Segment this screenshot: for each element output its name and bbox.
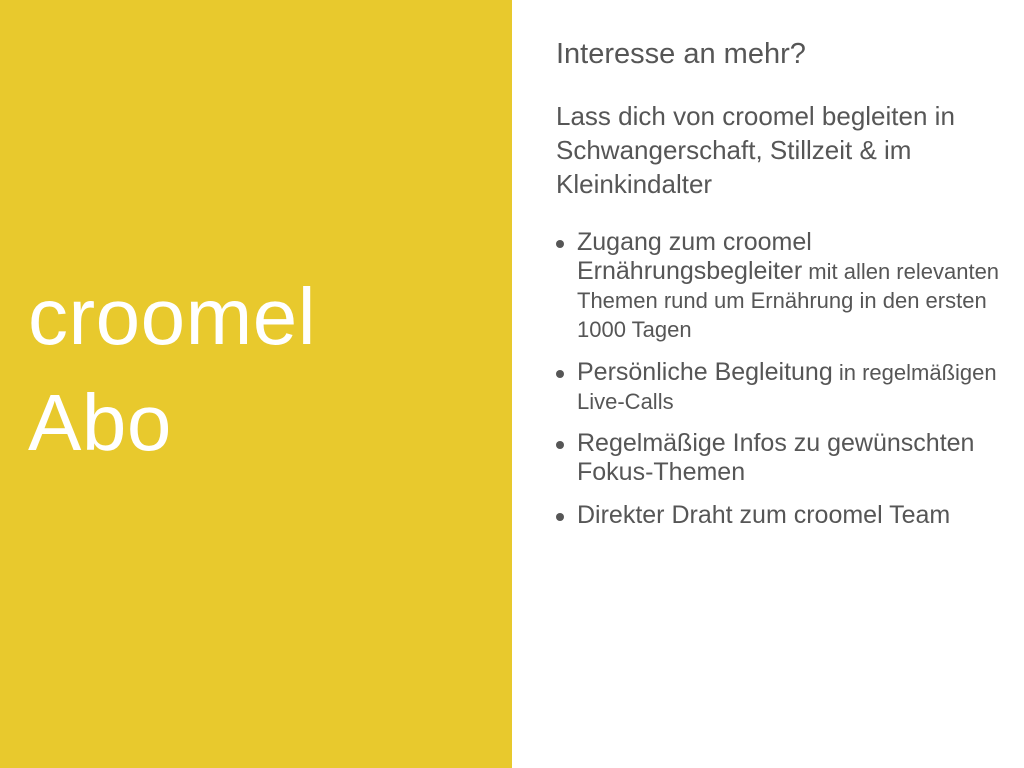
list-item-text: Regelmäßige Infos zu gewünschten Fokus-T… <box>577 429 974 486</box>
brand-wordmark: croomel Abo <box>0 264 512 503</box>
list-item-lead: Persönliche Begleitung <box>577 358 833 386</box>
list-item-text: Direkter Draht zum croomel Team <box>577 501 950 529</box>
list-item: Regelmäßige Infos zu gewünschten Fokus-T… <box>556 429 1000 488</box>
list-item-lead: Regelmäßige Infos zu gewünschten Fokus-T… <box>577 429 974 486</box>
list-item-text: Zugang zum croomel Ernährungsbegleiter m… <box>577 228 999 344</box>
page-title: Interesse an mehr? <box>556 32 1000 72</box>
list-item-lead: Direkter Draht zum croomel Team <box>577 501 950 529</box>
bullet-dot-icon <box>556 240 564 248</box>
feature-list: Zugang zum croomel Ernährungsbegleiter m… <box>556 202 1000 530</box>
list-item: Direkter Draht zum croomel Team <box>556 501 1000 530</box>
promo-slide: croomel Abo Interesse an mehr? Lass dich… <box>0 0 1024 768</box>
bullet-dot-icon <box>556 370 564 378</box>
brand-panel: croomel Abo <box>0 0 512 768</box>
content-panel: Interesse an mehr? Lass dich von croomel… <box>512 0 1024 768</box>
subheading: Lass dich von croomel begleiten in Schwa… <box>556 72 1000 201</box>
bullet-dot-icon <box>556 441 564 449</box>
brand-line-product: croomel <box>28 264 512 370</box>
list-item-text: Persönliche Begleitung in regelmäßigen L… <box>577 358 997 415</box>
brand-line-plan: Abo <box>28 370 512 476</box>
list-item: Zugang zum croomel Ernährungsbegleiter m… <box>556 228 1000 345</box>
bullet-dot-icon <box>556 513 564 521</box>
list-item-lead: Zugang zum croomel Ernährungsbegleiter <box>577 228 812 285</box>
list-item: Persönliche Begleitung in regelmäßigen L… <box>556 358 1000 417</box>
